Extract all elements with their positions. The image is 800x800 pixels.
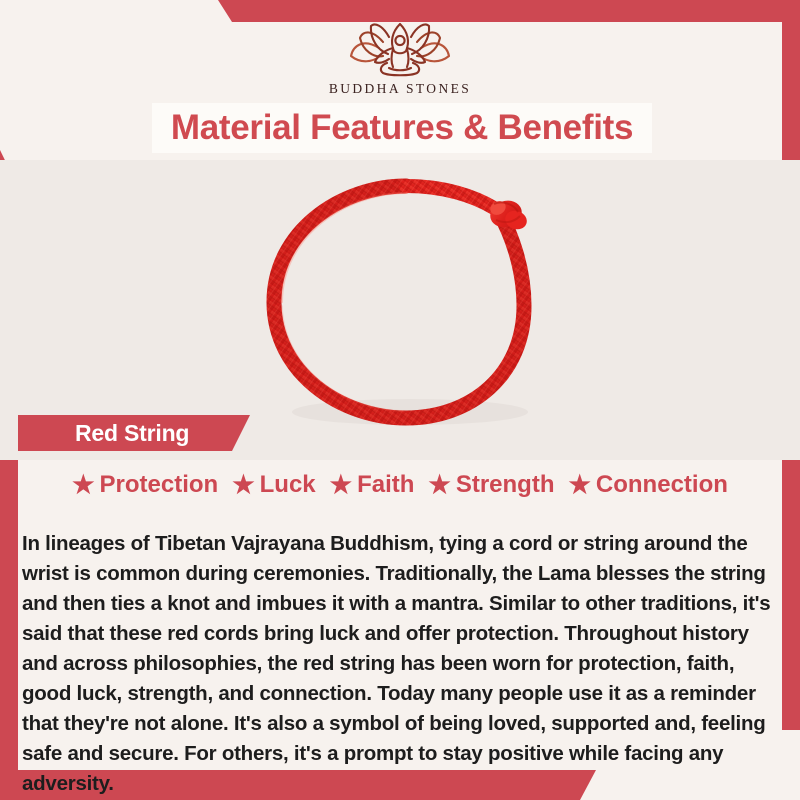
brand-name: BUDDHA STONES <box>329 81 471 97</box>
feature-item-protection: ★ Protection <box>72 471 218 499</box>
feature-label: Connection <box>596 471 728 499</box>
star-icon: ★ <box>330 473 352 498</box>
feature-label: Protection <box>100 471 219 499</box>
red-braided-string-bracelet-image <box>248 174 578 444</box>
feature-item-connection: ★ Connection <box>568 471 727 499</box>
feature-list: ★ Protection ★ Luck ★ Faith ★ Strength ★… <box>0 464 800 506</box>
brand-header: BUDDHA STONES <box>0 18 800 104</box>
star-icon: ★ <box>428 473 450 498</box>
lotus-meditation-icon <box>341 18 459 80</box>
page-title: Material Features & Benefits <box>171 108 633 148</box>
feature-label: Strength <box>456 471 555 499</box>
star-icon: ★ <box>568 473 590 498</box>
feature-label: Faith <box>357 471 414 499</box>
feature-item-faith: ★ Faith <box>330 471 415 499</box>
star-icon: ★ <box>72 473 94 498</box>
feature-item-strength: ★ Strength <box>428 471 554 499</box>
product-name-ribbon: Red String <box>18 415 250 451</box>
description-paragraph: In lineages of Tibetan Vajrayana Buddhis… <box>22 529 778 799</box>
feature-label: Luck <box>260 471 316 499</box>
feature-item-luck: ★ Luck <box>232 471 315 499</box>
product-name-label: Red String <box>75 420 189 447</box>
star-icon: ★ <box>232 473 254 498</box>
title-band: Material Features & Benefits <box>152 103 652 153</box>
poster-root: BUDDHA STONES Material Features & Benefi… <box>0 0 800 800</box>
